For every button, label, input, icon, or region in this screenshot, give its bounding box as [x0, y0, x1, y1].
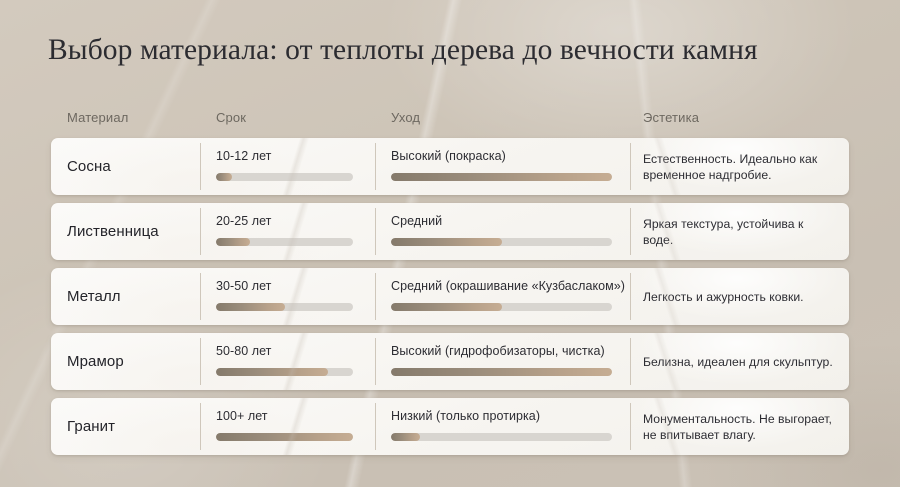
aesthetics-text: Яркая текстура, устойчива к воде. — [643, 216, 835, 248]
material-name: Лиственница — [67, 223, 159, 240]
cell-aesthetics: Естественность. Идеально как временное н… — [630, 138, 849, 195]
material-name: Металл — [67, 288, 121, 305]
cell-term: 50-80 лет — [200, 333, 375, 390]
term-bar-fill — [216, 368, 328, 376]
care-bar-track — [391, 173, 612, 181]
term-label: 100+ лет — [216, 409, 353, 424]
material-name: Сосна — [67, 158, 111, 175]
care-bar-track — [391, 433, 612, 441]
cell-material: Сосна — [51, 138, 200, 195]
cell-aesthetics: Легкость и ажурность ковки. — [630, 268, 849, 325]
term-label: 20-25 лет — [216, 214, 353, 229]
cell-material: Лиственница — [51, 203, 200, 260]
care-bar-fill — [391, 433, 420, 441]
table-row-4[interactable]: Мрамор 50-80 лет Высокий (гидрофобизатор… — [51, 333, 849, 390]
care-label: Средний — [391, 214, 612, 229]
column-header-aesthetics: Эстетика — [643, 108, 699, 128]
cell-care: Низкий (только протирка) — [375, 398, 630, 455]
term-label: 50-80 лет — [216, 344, 353, 359]
care-bar-track — [391, 368, 612, 376]
table-body: Сосна 10-12 лет Высокий (покраска) Естес… — [51, 138, 849, 463]
care-label: Средний (окрашивание «Кузбаслаком») — [391, 279, 612, 294]
column-header-material: Материал — [67, 108, 128, 128]
cell-material: Металл — [51, 268, 200, 325]
cell-material: Мрамор — [51, 333, 200, 390]
table-header: Материал Срок Уход Эстетика — [51, 108, 849, 128]
cell-care: Высокий (покраска) — [375, 138, 630, 195]
term-label: 30-50 лет — [216, 279, 353, 294]
table-row-1[interactable]: Сосна 10-12 лет Высокий (покраска) Естес… — [51, 138, 849, 195]
cell-material: Гранит — [51, 398, 200, 455]
cell-aesthetics: Монументальность. Не выгорает, не впитыв… — [630, 398, 849, 455]
care-label: Низкий (только протирка) — [391, 409, 612, 424]
column-header-care: Уход — [391, 108, 420, 128]
material-name: Мрамор — [67, 353, 124, 370]
cell-term: 30-50 лет — [200, 268, 375, 325]
cell-aesthetics: Яркая текстура, устойчива к воде. — [630, 203, 849, 260]
column-header-term: Срок — [216, 108, 246, 128]
table-row-3[interactable]: Металл 30-50 лет Средний (окрашивание «К… — [51, 268, 849, 325]
care-bar-track — [391, 238, 612, 246]
term-bar-fill — [216, 433, 353, 441]
cell-term: 20-25 лет — [200, 203, 375, 260]
care-label: Высокий (покраска) — [391, 149, 612, 164]
aesthetics-text: Легкость и ажурность ковки. — [643, 289, 804, 305]
care-bar-fill — [391, 238, 502, 246]
cell-care: Высокий (гидрофобизаторы, чистка) — [375, 333, 630, 390]
term-bar-track — [216, 238, 353, 246]
cell-aesthetics: Белизна, идеален для скульптур. — [630, 333, 849, 390]
term-bar-fill — [216, 173, 232, 181]
care-bar-fill — [391, 368, 612, 376]
infographic-page: Выбор материала: от теплоты дерева до ве… — [0, 0, 900, 487]
care-bar-track — [391, 303, 612, 311]
care-bar-fill — [391, 303, 502, 311]
cell-care: Средний (окрашивание «Кузбаслаком») — [375, 268, 630, 325]
term-bar-fill — [216, 238, 250, 246]
term-label: 10-12 лет — [216, 149, 353, 164]
cell-term: 10-12 лет — [200, 138, 375, 195]
cell-care: Средний — [375, 203, 630, 260]
care-label: Высокий (гидрофобизаторы, чистка) — [391, 344, 612, 359]
aesthetics-text: Монументальность. Не выгорает, не впитыв… — [643, 411, 835, 443]
term-bar-track — [216, 368, 353, 376]
table-row-2[interactable]: Лиственница 20-25 лет Средний Яркая текс… — [51, 203, 849, 260]
term-bar-track — [216, 303, 353, 311]
aesthetics-text: Естественность. Идеально как временное н… — [643, 151, 835, 183]
table-row-5[interactable]: Гранит 100+ лет Низкий (только протирка)… — [51, 398, 849, 455]
material-name: Гранит — [67, 418, 115, 435]
term-bar-track — [216, 173, 353, 181]
aesthetics-text: Белизна, идеален для скульптур. — [643, 354, 833, 370]
care-bar-fill — [391, 173, 612, 181]
page-title: Выбор материала: от теплоты дерева до ве… — [48, 32, 868, 68]
term-bar-track — [216, 433, 353, 441]
cell-term: 100+ лет — [200, 398, 375, 455]
term-bar-fill — [216, 303, 285, 311]
